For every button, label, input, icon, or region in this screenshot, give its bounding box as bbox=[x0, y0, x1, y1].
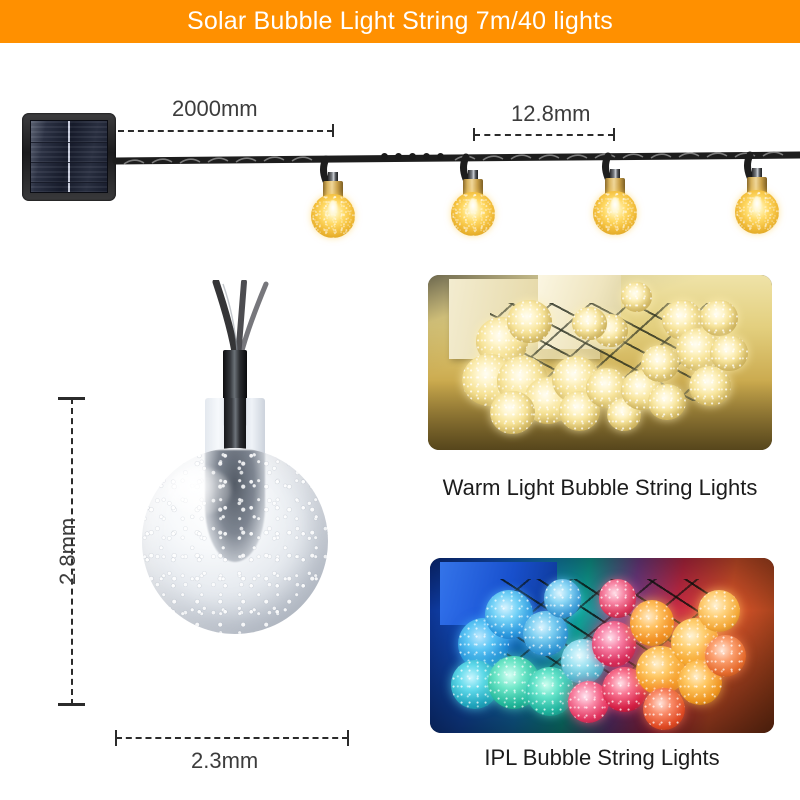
dimension-line-lead-length bbox=[118, 130, 333, 132]
lit-bulb bbox=[572, 307, 606, 340]
product-diagram-top: 2000mm 12.8mm bbox=[0, 43, 800, 268]
lit-bulb bbox=[621, 282, 652, 312]
lit-bulb bbox=[648, 384, 686, 421]
bulb-lit bbox=[449, 167, 497, 233]
lit-bulb-orange bbox=[698, 590, 739, 632]
photo-ipl-light bbox=[430, 558, 774, 733]
dimension-line-bulb-width bbox=[116, 737, 348, 739]
ipl-light-scene bbox=[430, 558, 774, 733]
lit-bulb bbox=[641, 345, 679, 382]
lit-bulb bbox=[700, 300, 738, 337]
dimension-tick-right bbox=[347, 730, 349, 746]
bulb-filament bbox=[468, 198, 478, 215]
dimension-tick-right bbox=[332, 124, 334, 137]
lit-bulb-orange bbox=[643, 688, 684, 730]
dimension-tick-top bbox=[58, 397, 85, 400]
warm-light-scene bbox=[428, 275, 772, 450]
bulb-bubble-texture bbox=[142, 448, 328, 634]
bulb-filament bbox=[610, 197, 620, 214]
dimension-label-bulb-width: 2.3mm bbox=[191, 748, 258, 774]
bulb-highlight bbox=[168, 467, 231, 515]
lit-bulb bbox=[710, 335, 748, 372]
lit-bulb-orange bbox=[630, 600, 675, 646]
bulb-filament bbox=[328, 200, 338, 217]
lit-bulb-orange bbox=[705, 635, 746, 677]
bulb-globe-clear bbox=[142, 448, 328, 634]
dimension-tick-left bbox=[473, 128, 475, 141]
bulb-closeup-diagram bbox=[110, 280, 360, 720]
bulb-lit bbox=[591, 166, 639, 232]
dimension-label-lead-length: 2000mm bbox=[172, 96, 258, 122]
photo-warm-light bbox=[428, 275, 772, 450]
page-title: Solar Bubble Light String 7m/40 lights bbox=[187, 7, 613, 36]
photo-caption-warm-light: Warm Light Bubble String Lights bbox=[428, 475, 772, 501]
bulb-lit bbox=[309, 169, 357, 235]
bulb-filament bbox=[752, 196, 762, 213]
dimension-line-bulb-spacing bbox=[474, 134, 614, 136]
dimension-tick-right bbox=[613, 128, 615, 141]
dimension-tick-left bbox=[115, 730, 117, 746]
lit-bulb bbox=[507, 300, 552, 344]
lit-bulb bbox=[490, 391, 535, 435]
lit-bulb bbox=[689, 366, 730, 406]
lit-bulb-blue bbox=[544, 579, 582, 618]
dimension-label-bulb-height: 2.8mm bbox=[55, 518, 81, 585]
bulb-lit bbox=[733, 165, 781, 231]
photo-caption-ipl-light: IPL Bubble String Lights bbox=[430, 745, 774, 771]
header-banner: Solar Bubble Light String 7m/40 lights bbox=[0, 0, 800, 43]
dimension-label-bulb-spacing: 12.8mm bbox=[511, 101, 590, 127]
dimension-tick-bottom bbox=[58, 703, 85, 706]
lit-bulb-red bbox=[599, 579, 637, 618]
string-continuation-ellipsis bbox=[381, 153, 444, 160]
